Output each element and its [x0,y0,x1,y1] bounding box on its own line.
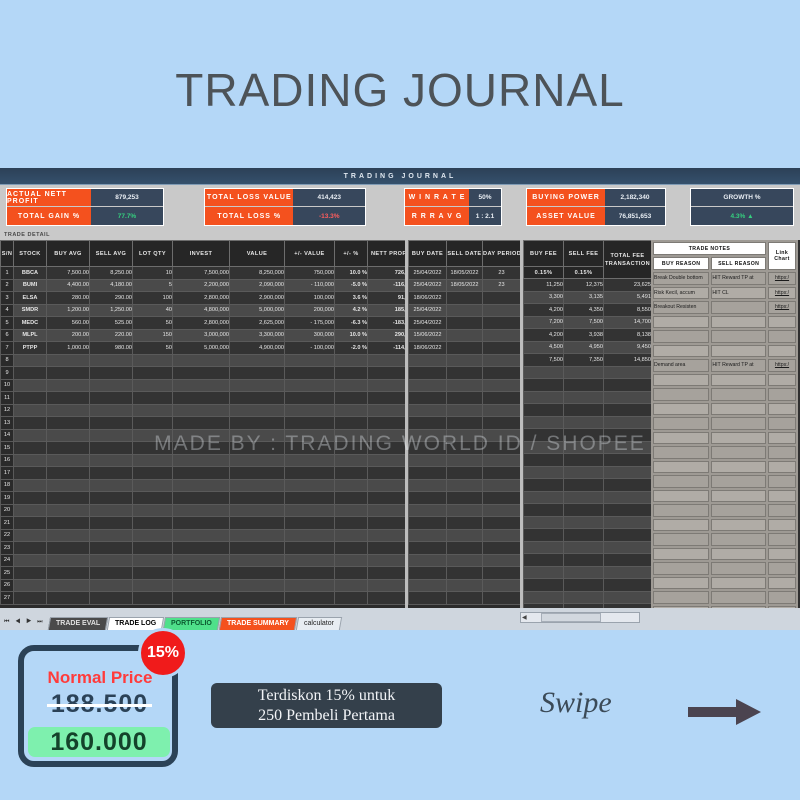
cell-buy-date[interactable]: 18/06/2022 [409,342,447,355]
cell-sell-fee[interactable]: 4,350 [564,304,604,317]
table-row-empty[interactable]: 18 [1,479,406,492]
table-row-empty[interactable] [653,388,796,401]
cell-empty[interactable] [409,467,447,480]
cell-lot-qty[interactable]: 150 [133,329,173,342]
table-row-empty[interactable]: 16 [1,454,406,467]
cell-sell-date[interactable] [447,329,483,342]
cell-empty[interactable] [230,454,285,467]
cell-buy-reason[interactable] [653,330,709,343]
cell-sell-reason[interactable] [711,316,766,329]
cell-empty[interactable] [173,479,230,492]
cell-sn[interactable]: 12 [1,404,14,417]
cell-empty[interactable] [368,379,406,392]
cell-empty[interactable] [133,454,173,467]
table-row-empty[interactable] [524,566,652,579]
table-row-empty[interactable] [524,541,652,554]
cell-total-fee[interactable]: 14,850 [604,354,652,367]
cell-empty[interactable] [447,454,483,467]
table-row-empty[interactable] [409,517,521,530]
table-row-empty[interactable]: 14 [1,429,406,442]
cell-empty[interactable] [90,592,133,605]
cell-value[interactable]: 2,900,000 [230,292,285,305]
cell-empty[interactable] [335,542,368,555]
cell-empty[interactable] [335,504,368,517]
cell-sell-avg[interactable]: 525.00 [90,317,133,330]
cell-empty[interactable] [409,554,447,567]
table-row-empty[interactable] [524,479,652,492]
cell-empty[interactable] [604,504,652,517]
table-row[interactable]: Demand areaHIT Reward TP athttps:/ [653,359,796,372]
cell-empty[interactable] [173,504,230,517]
cell-empty[interactable] [14,579,47,592]
cell-empty[interactable] [447,554,483,567]
cell-nett-profit[interactable]: 185,300 [368,304,406,317]
cell-empty[interactable] [14,379,47,392]
table-row[interactable]: 15/06/2022 [409,329,521,342]
table-row[interactable]: Break Double bottomHIT Reward TP athttps… [653,272,796,285]
cell-day-period[interactable] [483,292,521,305]
cell-empty[interactable] [368,517,406,530]
cell-empty[interactable] [447,517,483,530]
cell-empty[interactable] [711,403,766,416]
cell-empty[interactable] [409,417,447,430]
cell-empty[interactable] [14,467,47,480]
cell-empty[interactable] [14,442,47,455]
cell-empty[interactable] [564,429,604,442]
trade-detail-panel[interactable]: S/N STOCK BUY AVG SELL AVG LOT QTY INVES… [0,240,405,612]
cell-pm-value[interactable]: - 110,000 [285,279,335,292]
cell-empty[interactable] [14,367,47,380]
cell-empty[interactable] [564,554,604,567]
cell-empty[interactable] [335,354,368,367]
cell-empty[interactable] [335,392,368,405]
table-row-empty[interactable] [409,454,521,467]
cell-nett-profit[interactable]: 726,375 [368,267,406,280]
cell-empty[interactable] [564,504,604,517]
cell-empty[interactable] [90,404,133,417]
cell-empty[interactable] [564,391,604,404]
cell-empty[interactable] [409,517,447,530]
cell-empty[interactable] [90,529,133,542]
cell-total-fee[interactable]: 5,491 [604,291,652,304]
cell-sell-fee[interactable]: 7,500 [564,316,604,329]
cell-empty[interactable] [285,354,335,367]
cell-empty[interactable] [47,529,90,542]
cell-empty[interactable] [14,504,47,517]
cell-empty[interactable] [604,416,652,429]
table-row-empty[interactable]: 24 [1,554,406,567]
table-row-empty[interactable] [653,432,796,445]
cell-sn[interactable]: 11 [1,392,14,405]
cell-empty[interactable] [133,504,173,517]
table-row-empty[interactable] [409,529,521,542]
cell-empty[interactable] [653,403,709,416]
cell-empty[interactable] [483,479,521,492]
cell-empty[interactable] [230,417,285,430]
cell-empty[interactable] [14,592,47,605]
cell-empty[interactable] [604,591,652,604]
cell-empty[interactable] [604,554,652,567]
cell-empty[interactable] [133,529,173,542]
cell-sell-fee[interactable]: 3,938 [564,329,604,342]
cell-empty[interactable] [711,388,766,401]
cell-buy-date[interactable]: 25/04/2022 [409,279,447,292]
table-row-empty[interactable] [409,567,521,580]
cell-invest[interactable]: 2,800,000 [173,317,230,330]
cell-empty[interactable] [230,579,285,592]
cell-lot-qty[interactable]: 10 [133,267,173,280]
cell-empty[interactable] [409,429,447,442]
cell-sell-avg[interactable]: 8,250.00 [90,267,133,280]
cell-empty[interactable] [133,592,173,605]
table-row[interactable]: 25/04/2022 [409,304,521,317]
trade-dates-panel[interactable]: BUY DATE SELL DATE DAY PERIOD 25/04/2022… [408,240,520,612]
cell-empty[interactable] [285,379,335,392]
cell-empty[interactable] [133,467,173,480]
sheet-nav-arrows-icon[interactable]: ⏮ ◀ ▶ ⏭ [4,619,45,626]
cell-empty[interactable] [711,519,766,532]
cell-empty[interactable] [604,516,652,529]
cell-pm-value[interactable]: - 100,000 [285,342,335,355]
table-row-empty[interactable] [653,562,796,575]
cell-empty[interactable] [409,504,447,517]
cell-empty[interactable] [133,442,173,455]
cell-empty[interactable] [173,379,230,392]
cell-empty[interactable] [90,554,133,567]
cell-buy-fee[interactable]: 4,500 [524,341,564,354]
cell-buy-avg[interactable]: 280.00 [47,292,90,305]
cell-invest[interactable]: 3,000,000 [173,329,230,342]
cell-empty[interactable] [368,454,406,467]
table-row-empty[interactable]: 11 [1,392,406,405]
cell-empty[interactable] [604,566,652,579]
sheet-tab-trade-eval[interactable]: TRADE EVAL [47,617,108,630]
table-row-empty[interactable] [524,579,652,592]
cell-empty[interactable] [564,491,604,504]
cell-empty[interactable] [230,592,285,605]
cell-empty[interactable] [409,367,447,380]
cell-pm-pct[interactable]: 4.2 % [335,304,368,317]
cell-sn[interactable]: 4 [1,304,14,317]
cell-buy-fee[interactable]: 3,300 [524,291,564,304]
cell-empty[interactable] [711,562,766,575]
cell-empty[interactable] [133,367,173,380]
cell-empty[interactable] [653,461,709,474]
cell-pm-pct[interactable]: 10.0 % [335,267,368,280]
cell-sn[interactable]: 5 [1,317,14,330]
cell-empty[interactable] [768,591,796,604]
cell-empty[interactable] [285,467,335,480]
cell-empty[interactable] [447,542,483,555]
cell-empty[interactable] [230,554,285,567]
cell-empty[interactable] [368,554,406,567]
cell-empty[interactable] [230,479,285,492]
cell-empty[interactable] [447,592,483,605]
cell-empty[interactable] [368,429,406,442]
cell-empty[interactable] [653,591,709,604]
table-row-empty[interactable]: 8 [1,354,406,367]
cell-invest[interactable]: 2,200,000 [173,279,230,292]
cell-sn[interactable]: 2 [1,279,14,292]
cell-empty[interactable] [133,429,173,442]
cell-sn[interactable]: 16 [1,454,14,467]
trade-notes-panel[interactable]: TRADE NOTES Link Chart BUY REASON SELL R… [651,240,798,612]
cell-empty[interactable] [483,354,521,367]
table-row-empty[interactable] [409,379,521,392]
table-row-empty[interactable] [653,446,796,459]
cell-empty[interactable] [368,504,406,517]
table-row[interactable] [653,345,796,358]
cell-day-period[interactable]: 23 [483,279,521,292]
cell-empty[interactable] [604,429,652,442]
cell-empty[interactable] [47,554,90,567]
cell-empty[interactable] [285,504,335,517]
cell-sn[interactable]: 18 [1,479,14,492]
cell-link-chart[interactable] [768,345,796,358]
cell-pm-pct[interactable]: -6.3 % [335,317,368,330]
cell-empty[interactable] [653,577,709,590]
cell-empty[interactable] [368,479,406,492]
cell-invest[interactable]: 4,800,000 [173,304,230,317]
cell-day-period[interactable] [483,304,521,317]
table-row-empty[interactable] [524,416,652,429]
cell-empty[interactable] [564,529,604,542]
cell-invest[interactable]: 2,800,000 [173,292,230,305]
table-row-empty[interactable] [653,490,796,503]
cell-buy-date[interactable]: 25/04/2022 [409,267,447,280]
cell-empty[interactable] [368,417,406,430]
cell-buy-fee[interactable]: 4,200 [524,329,564,342]
cell-empty[interactable] [483,442,521,455]
table-row[interactable]: 11,25012,37523,625 [524,279,652,292]
cell-empty[interactable] [47,517,90,530]
cell-sn[interactable]: 1 [1,267,14,280]
cell-link-chart[interactable]: https:/ [768,301,796,314]
cell-empty[interactable] [483,579,521,592]
table-row[interactable]: 25/04/2022 [409,317,521,330]
cell-buy-reason[interactable]: Demand area [653,359,709,372]
cell-sell-fee[interactable]: 7,350 [564,354,604,367]
scroll-left-icon[interactable]: ◀ [522,614,527,621]
cell-empty[interactable] [653,562,709,575]
cell-empty[interactable] [47,592,90,605]
table-row-empty[interactable]: 19 [1,492,406,505]
table-row-empty[interactable] [409,442,521,455]
table-row-empty[interactable] [409,404,521,417]
cell-total-fee[interactable]: 23,625 [604,279,652,292]
cell-empty[interactable] [285,579,335,592]
table-row-empty[interactable] [524,529,652,542]
cell-empty[interactable] [47,504,90,517]
table-row-empty[interactable] [524,516,652,529]
table-row-empty[interactable] [409,392,521,405]
cell-empty[interactable] [90,392,133,405]
cell-empty[interactable] [447,492,483,505]
cell-empty[interactable] [230,529,285,542]
table-row-empty[interactable] [524,441,652,454]
cell-empty[interactable] [409,404,447,417]
table-row[interactable]: 18/06/2022 [409,342,521,355]
cell-empty[interactable] [230,567,285,580]
cell-empty[interactable] [173,442,230,455]
scrollbar-thumb[interactable] [541,613,601,622]
cell-empty[interactable] [173,542,230,555]
cell-sell-reason[interactable]: HIT CL [711,287,766,300]
table-row-empty[interactable] [653,475,796,488]
cell-stock[interactable]: PTPP [14,342,47,355]
sheet-tab-trade-summary[interactable]: TRADE SUMMARY [219,617,297,630]
cell-empty[interactable] [564,454,604,467]
cell-stock[interactable]: MLPL [14,329,47,342]
cell-empty[interactable] [483,367,521,380]
table-row-empty[interactable] [653,548,796,561]
cell-sn[interactable]: 13 [1,417,14,430]
cell-empty[interactable] [90,354,133,367]
cell-sell-date[interactable] [447,342,483,355]
cell-empty[interactable] [409,442,447,455]
table-row[interactable]: 5MEDC560.00525.00502,800,0002,625,000- 1… [1,317,406,330]
cell-empty[interactable] [14,454,47,467]
cell-empty[interactable] [483,504,521,517]
cell-empty[interactable] [368,404,406,417]
cell-total-fee[interactable]: 14,700 [604,316,652,329]
cell-buy-fee[interactable]: 7,500 [524,354,564,367]
cell-empty[interactable] [14,479,47,492]
cell-empty[interactable] [564,541,604,554]
cell-lot-qty[interactable]: 5 [133,279,173,292]
cell-empty[interactable] [368,529,406,542]
table-row[interactable]: 3ELSA280.00290.001002,800,0002,900,00010… [1,292,406,305]
cell-empty[interactable] [14,404,47,417]
cell-empty[interactable] [524,429,564,442]
cell-empty[interactable] [524,554,564,567]
cell-empty[interactable] [447,479,483,492]
cell-day-period[interactable] [483,342,521,355]
cell-link-chart[interactable]: https:/ [768,359,796,372]
cell-empty[interactable] [285,554,335,567]
table-row-empty[interactable] [524,429,652,442]
cell-empty[interactable] [768,417,796,430]
cell-sn[interactable]: 15 [1,442,14,455]
table-row[interactable]: 18/06/2022 [409,292,521,305]
cell-stock[interactable]: MEDC [14,317,47,330]
cell-empty[interactable] [604,579,652,592]
cell-sn[interactable]: 17 [1,467,14,480]
cell-empty[interactable] [711,432,766,445]
table-row[interactable]: 6MLPL200.00220.001503,000,0003,300,00030… [1,329,406,342]
table-row-empty[interactable] [524,466,652,479]
table-row-empty[interactable] [409,592,521,605]
cell-empty[interactable] [173,429,230,442]
table-row-empty[interactable]: 22 [1,529,406,542]
cell-day-period[interactable] [483,317,521,330]
trade-fees-panel[interactable]: BUY FEE SELL FEE TOTAL FEE TRANSACTION 0… [523,240,651,612]
cell-sn[interactable]: 22 [1,529,14,542]
cell-sn[interactable]: 14 [1,429,14,442]
cell-sell-reason[interactable] [711,345,766,358]
cell-empty[interactable] [90,542,133,555]
cell-pm-pct[interactable]: 10.0 % [335,329,368,342]
cell-invest[interactable]: 5,000,000 [173,342,230,355]
cell-empty[interactable] [564,404,604,417]
cell-empty[interactable] [90,517,133,530]
cell-empty[interactable] [47,467,90,480]
cell-sell-avg[interactable]: 4,180.00 [90,279,133,292]
cell-empty[interactable] [47,479,90,492]
cell-empty[interactable] [483,392,521,405]
cell-empty[interactable] [653,504,709,517]
cell-empty[interactable] [711,591,766,604]
cell-buy-reason[interactable] [653,345,709,358]
table-row-empty[interactable]: 13 [1,417,406,430]
cell-empty[interactable] [90,467,133,480]
cell-empty[interactable] [653,548,709,561]
table-row[interactable]: 2BUMI4,400.004,180.0052,200,0002,090,000… [1,279,406,292]
cell-value[interactable]: 2,625,000 [230,317,285,330]
cell-buy-avg[interactable]: 1,200.00 [47,304,90,317]
cell-empty[interactable] [47,442,90,455]
cell-value[interactable]: 4,900,000 [230,342,285,355]
cell-empty[interactable] [230,467,285,480]
cell-buy-reason[interactable]: Risk Kecil, accum [653,287,709,300]
table-row-empty[interactable] [653,374,796,387]
cell-empty[interactable] [483,567,521,580]
cell-empty[interactable] [133,392,173,405]
cell-empty[interactable] [564,416,604,429]
cell-empty[interactable] [285,404,335,417]
cell-empty[interactable] [133,417,173,430]
table-row-empty[interactable] [524,379,652,392]
cell-empty[interactable] [711,461,766,474]
cell-empty[interactable] [368,542,406,555]
cell-pm-value[interactable]: 750,000 [285,267,335,280]
cell-empty[interactable] [173,579,230,592]
table-row-empty[interactable] [653,519,796,532]
cell-empty[interactable] [230,404,285,417]
cell-empty[interactable] [47,404,90,417]
table-row-empty[interactable] [409,542,521,555]
table-row-empty[interactable]: 21 [1,517,406,530]
cell-pm-value[interactable]: 200,000 [285,304,335,317]
cell-empty[interactable] [711,577,766,590]
cell-empty[interactable] [524,379,564,392]
cell-day-period[interactable] [483,329,521,342]
cell-empty[interactable] [711,548,766,561]
cell-value[interactable]: 3,300,000 [230,329,285,342]
table-row[interactable]: 7,5007,35014,850 [524,354,652,367]
cell-empty[interactable] [47,417,90,430]
cell-stock[interactable]: ELSA [14,292,47,305]
cell-empty[interactable] [483,492,521,505]
cell-empty[interactable] [483,404,521,417]
cell-sn[interactable]: 3 [1,292,14,305]
cell-empty[interactable] [173,554,230,567]
cell-buy-date[interactable]: 25/04/2022 [409,317,447,330]
table-row[interactable]: 25/04/202218/05/202223 [409,279,521,292]
cell-buy-reason[interactable] [653,316,709,329]
cell-empty[interactable] [604,366,652,379]
cell-empty[interactable] [564,479,604,492]
cell-empty[interactable] [285,367,335,380]
cell-sell-avg[interactable]: 980.00 [90,342,133,355]
cell-empty[interactable] [409,392,447,405]
cell-empty[interactable] [285,429,335,442]
cell-buy-avg[interactable]: 7,500.00 [47,267,90,280]
table-row-empty[interactable] [653,591,796,604]
cell-empty[interactable] [335,529,368,542]
cell-empty[interactable] [335,404,368,417]
cell-sn[interactable]: 20 [1,504,14,517]
